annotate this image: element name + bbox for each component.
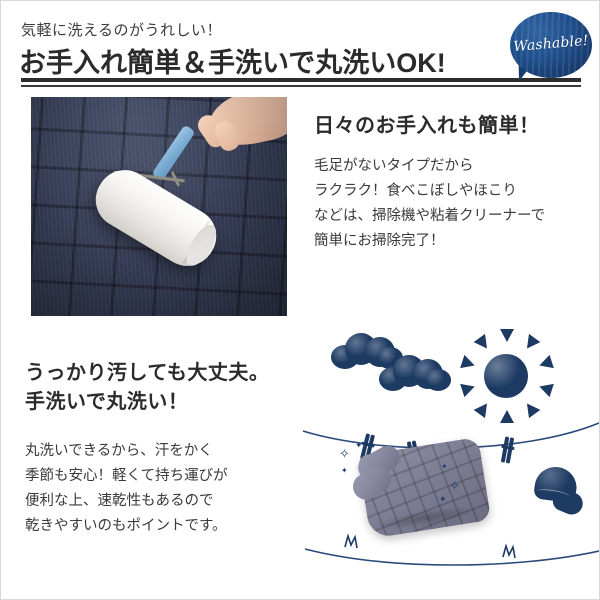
- section-wash-heading: うっかり汚しても大丈夫。 手洗いで丸洗い！: [25, 359, 297, 417]
- body-line: 便利な上、速乾性もあるので: [25, 489, 297, 514]
- washable-badge: Washable!: [510, 12, 592, 86]
- sparkle-icon: ✦: [341, 467, 348, 475]
- body-line: 丸洗いできるから、汗をかく: [25, 439, 297, 464]
- section-care-body: 毛足がないタイプだから ラクラク！食べこぼしやほこり などは、掃除機や粘着クリー…: [314, 154, 592, 254]
- heading-line: 手洗いで丸洗い！: [25, 388, 297, 417]
- body-line: などは、掃除機や粘着クリーナーで: [314, 204, 592, 229]
- section-care-heading: 日々のお手入れも簡単！: [314, 109, 592, 138]
- body-line: 簡単にお掃除完了！: [314, 229, 592, 254]
- header-divider-thick: [21, 78, 581, 82]
- laundry-illustration: ✧ ✦ ✦ ✦ ✧ ✦: [301, 319, 600, 591]
- cap-icon: [533, 465, 585, 515]
- body-line: ラクラク！食べこぼしやほこり: [314, 179, 592, 204]
- sparkle-icon: ✦: [355, 441, 363, 450]
- sparkle-icon: ✦: [441, 463, 448, 471]
- body-line: 毛足がないタイプだから: [314, 154, 592, 179]
- promo-page: 気軽に洗えるのがうれしい！ お手入れ簡単＆手洗いで丸洗いOK! Washable…: [0, 0, 600, 600]
- body-line: 乾きやすいのもポイントです。: [25, 514, 297, 539]
- section-hand-wash: うっかり汚しても大丈夫。 手洗いで丸洗い！ 丸洗いできるから、汗をかく 季節も安…: [25, 359, 297, 539]
- sparkle-icon: ✦: [439, 495, 447, 504]
- section-wash-body: 丸洗いできるから、汗をかく 季節も安心！軽くて持ち運びが 便利な上、速乾性もある…: [25, 439, 297, 539]
- lint-roller-photo: [31, 97, 287, 316]
- sparkle-icon: ✧: [339, 447, 350, 460]
- section-daily-care: 日々のお手入れも簡単！ 毛足がないタイプだから ラクラク！食べこぼしやほこり な…: [314, 109, 592, 254]
- header-divider-thin: [21, 85, 581, 87]
- header-subtitle: 気軽に洗えるのがうれしい！: [21, 19, 222, 40]
- photo-vignette: [31, 97, 287, 316]
- folded-mat-illustration: [342, 427, 492, 545]
- body-line: 季節も安心！軽くて持ち運びが: [25, 464, 297, 489]
- heading-line: うっかり汚しても大丈夫。: [25, 359, 297, 388]
- sparkle-icon: ✧: [449, 479, 460, 492]
- page-title: お手入れ簡単＆手洗いで丸洗いOK!: [19, 41, 446, 80]
